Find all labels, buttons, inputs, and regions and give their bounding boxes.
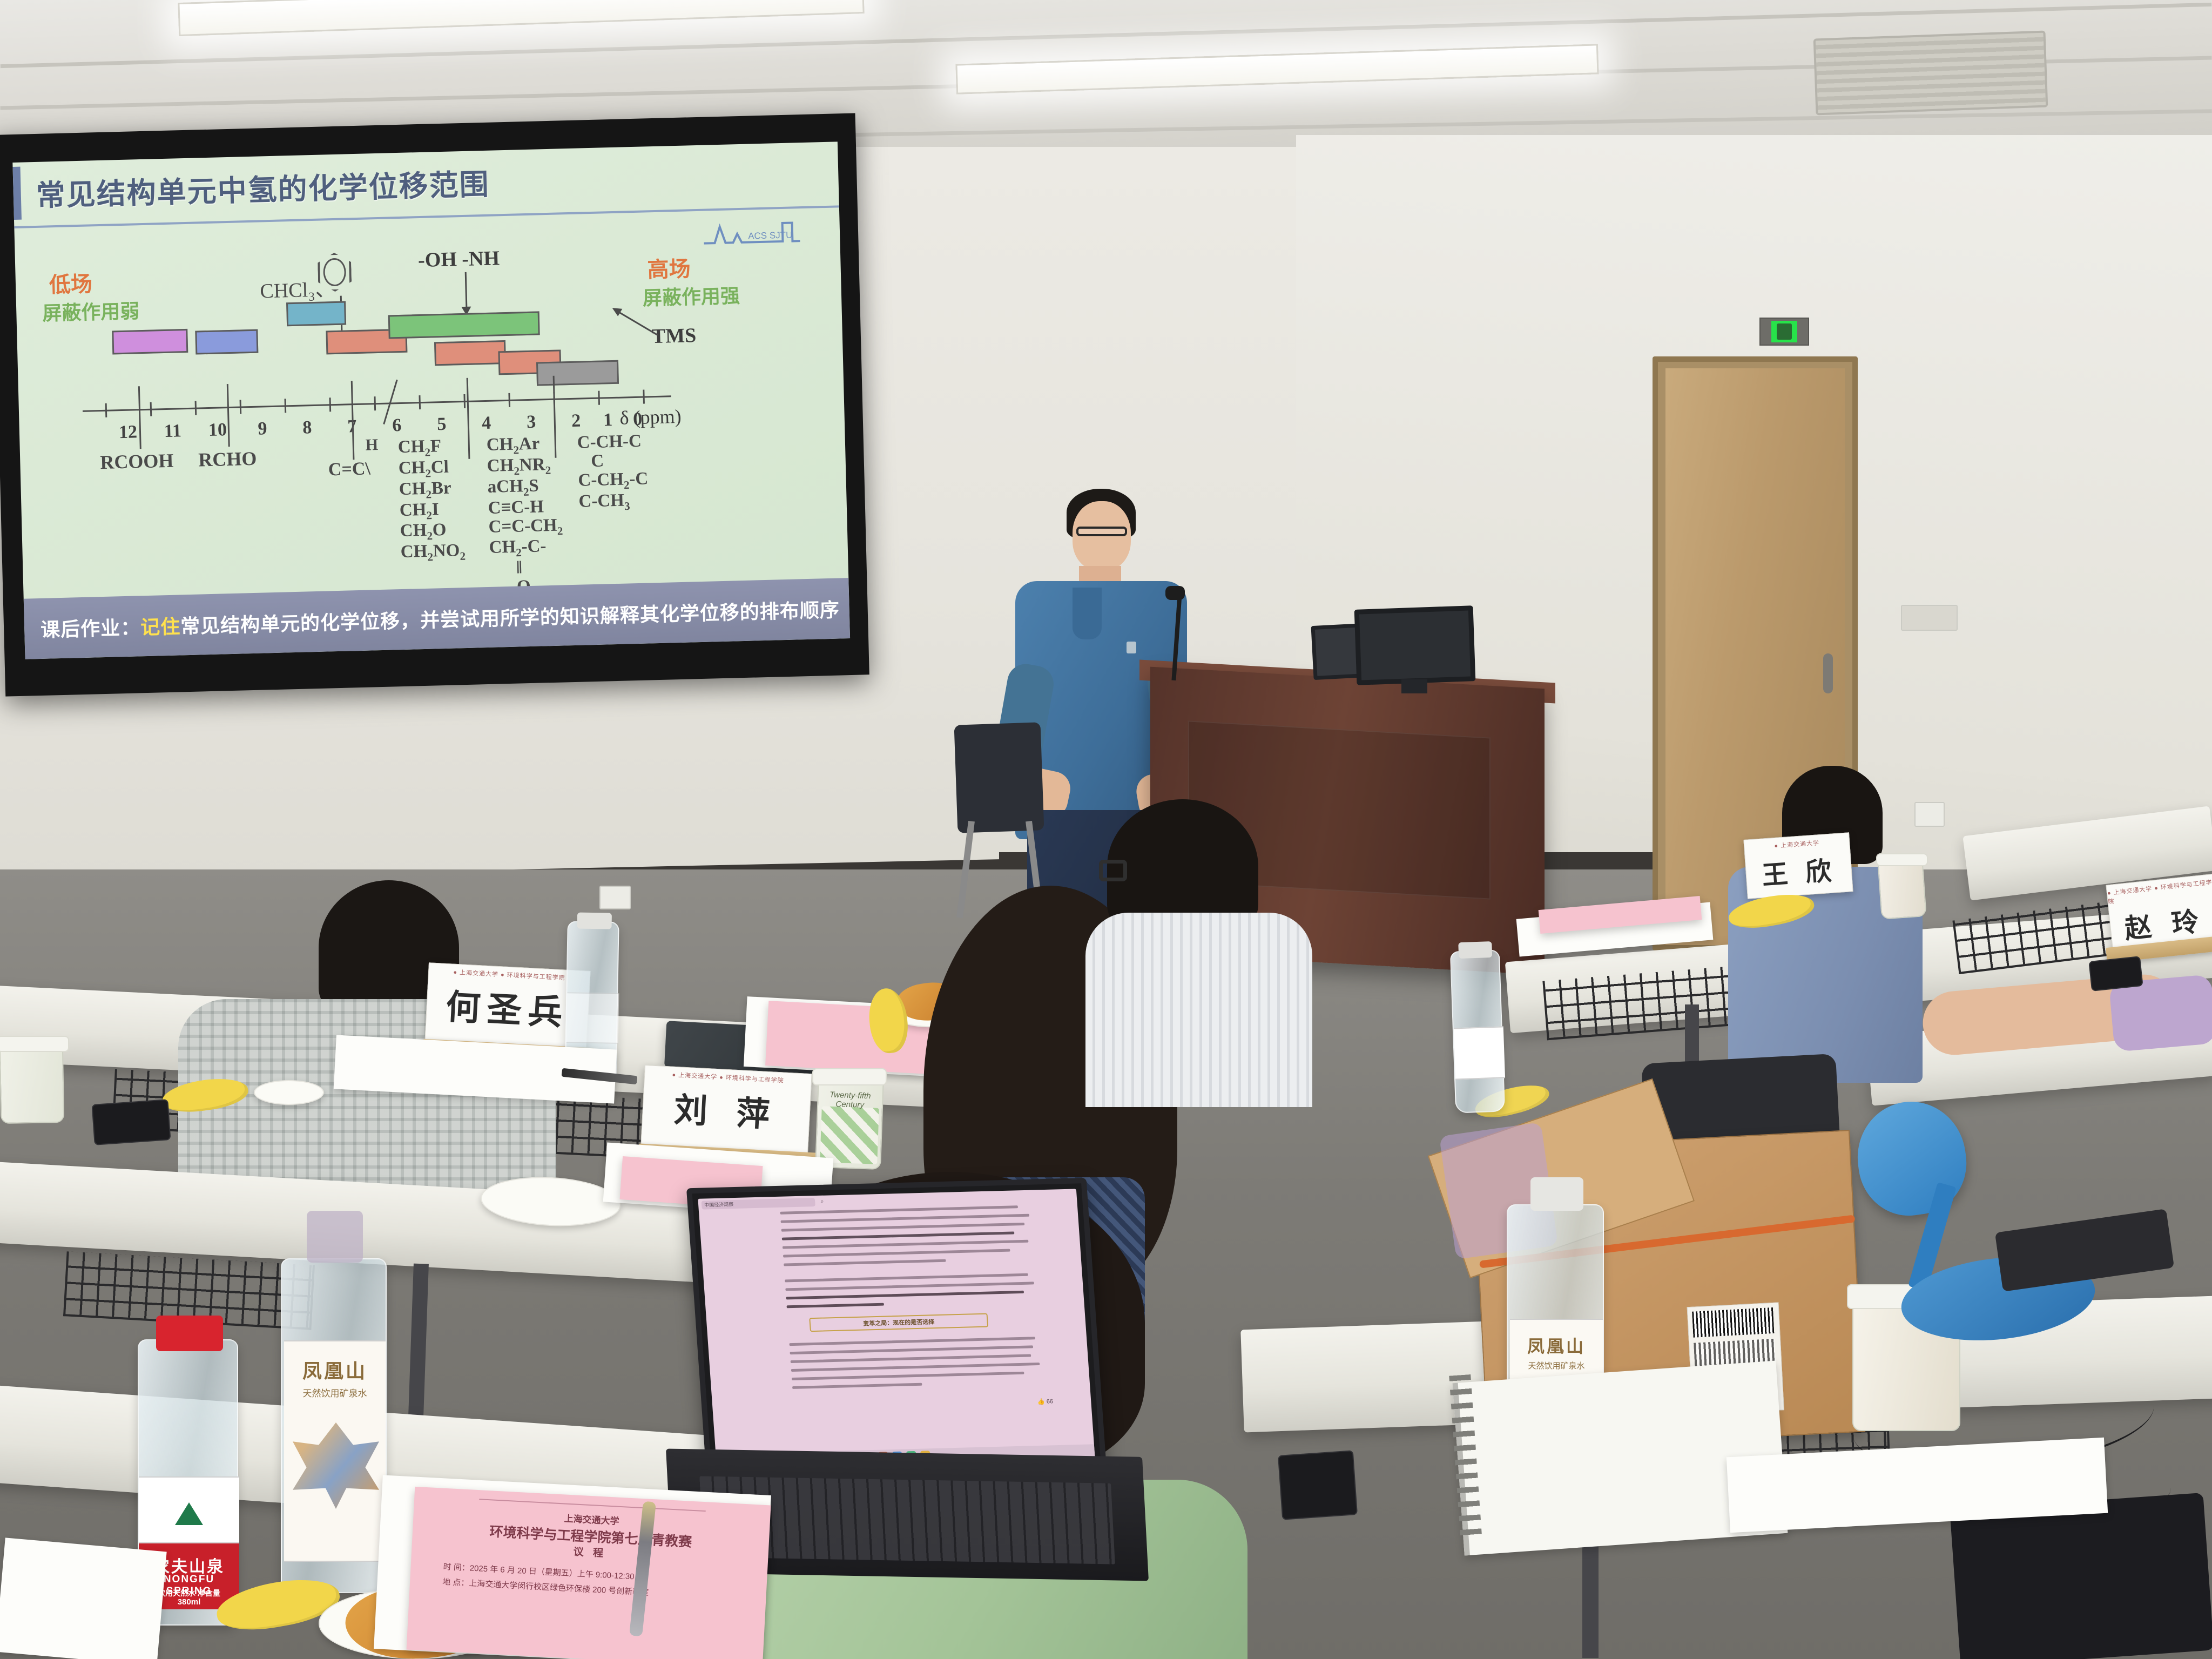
wall-panel-icon — [1901, 605, 1958, 631]
like-count: 66 — [1046, 1398, 1053, 1405]
axis-unit-label: δ (ppm) — [619, 405, 682, 429]
group-label-rcooh: RCOOH — [100, 450, 174, 473]
axis-tick — [150, 402, 152, 416]
alkene-h-atom: H — [365, 436, 378, 454]
axis-tick — [329, 397, 332, 412]
ppm-axis — [83, 395, 671, 412]
tms-pointer-arrow — [613, 308, 658, 335]
label-tms: TMS — [651, 323, 696, 348]
axis-tick-label: 3 — [527, 412, 536, 433]
cup-lid — [1876, 853, 1928, 866]
group-label-alkyl: C-CH-C C C-CH2-C C-CH3 — [577, 431, 649, 513]
cup-pattern — [820, 1106, 879, 1164]
bottle-label — [1454, 1026, 1505, 1080]
article-callout-heading: 变革之局：现在的是否选择 — [809, 1313, 988, 1332]
agenda-document: 上海交通大学 环境科学与工程学院第七届青教赛 议 程 时 间：2025 年 6 … — [407, 1487, 771, 1659]
paper-cup-left — [0, 1042, 64, 1124]
axis-tick-label: 5 — [437, 414, 447, 435]
axis-tick — [643, 390, 645, 404]
bottle2-brand: 凤凰山 — [284, 1355, 386, 1384]
cup-text: Twenty-fifth Century — [816, 1090, 884, 1110]
running-man-exit-icon — [1771, 321, 1797, 342]
plate-left — [254, 1080, 324, 1105]
label-low-field-shielding: 屏蔽作用弱 — [42, 295, 140, 326]
sjtu-acs-logo-icon: ACS SJTU — [701, 210, 821, 251]
bottle-label: 凤凰山 天然饮用矿泉水 — [284, 1340, 386, 1562]
projection-screen: 常见结构单元中氢的化学位移范围 ACS SJTU 低场 屏蔽作用弱 高场 屏蔽作… — [0, 113, 869, 697]
leader-line — [138, 386, 141, 449]
axis-tick-label: 9 — [258, 419, 267, 439]
bottle2-desc: 天然饮用矿泉水 — [1510, 1360, 1603, 1371]
presenter-pocket-logo — [1127, 642, 1136, 653]
axis-tick — [598, 391, 600, 405]
laptop-browser-page[interactable]: 中国经济观察 ⌕ 变革之局：现在的是否选择 � — [698, 1189, 1095, 1468]
axis-tick-label: 6 — [392, 415, 402, 436]
axis-tick — [285, 399, 287, 413]
bottle-cap — [577, 913, 612, 929]
axis-tick — [463, 394, 466, 408]
leader-line — [467, 378, 470, 459]
name-card-liu: ● 上海交通大学 ● 环境科学与工程学院 刘 萍 — [640, 1065, 812, 1155]
slide-title: 常见结构单元中氢的化学位移范围 — [36, 160, 490, 214]
homework-keyword: 记住 — [140, 615, 181, 638]
bottle-cap — [1458, 941, 1492, 959]
logo-text: ACS SJTU — [748, 230, 793, 241]
group-label-ch2x: CH2F CH2Cl CH2Br CH2I CH2O CH2NO2 — [397, 436, 466, 564]
band-arh — [286, 301, 346, 326]
axis-tick-label: 4 — [482, 413, 491, 434]
barcode-icon — [1692, 1307, 1774, 1338]
water-bottle-right — [1450, 949, 1505, 1113]
band-rcooh — [112, 329, 188, 355]
group-label-ch2ar: CH2Ar CH2NR2 aCH2S C≡C-H C=C-CH2 CH2-C- … — [486, 434, 564, 598]
bottle-cap — [307, 1211, 363, 1263]
maple-leaf-icon — [293, 1422, 379, 1509]
axis-tick — [374, 396, 376, 410]
ceiling-air-vent — [1813, 31, 2048, 116]
fenghuangshan-water-bottle: 凤凰山 天然饮用矿泉水 — [281, 1258, 387, 1593]
name-card-text: 刘 萍 — [673, 1082, 780, 1136]
presenter-glasses-icon — [1076, 527, 1127, 536]
pointer-arrow — [465, 272, 468, 314]
door-handle[interactable] — [1823, 653, 1833, 693]
smartphone-left[interactable] — [92, 1099, 171, 1145]
attendee-phone[interactable] — [2088, 956, 2143, 992]
leader-line — [227, 384, 230, 447]
attendee-glasses-icon — [1099, 860, 1127, 881]
axis-tick — [419, 395, 421, 409]
name-card-text: 王 欣 — [1761, 849, 1837, 892]
name-card-zhao: ● 上海交通大学 ● 环境科学与工程学院 赵 玲 — [2106, 874, 2212, 948]
label-low-field: 低场 — [49, 266, 92, 299]
laptop-screen[interactable]: 中国经济观察 ⌕ 变革之局：现在的是否选择 � — [686, 1178, 1107, 1479]
label-high-field-shielding: 屏蔽作用强 — [642, 280, 740, 311]
bottle2-brand: 凤凰山 — [1510, 1333, 1603, 1358]
microphone-head-icon[interactable] — [1165, 586, 1185, 600]
axis-tick-label: 12 — [119, 422, 138, 443]
exit-sign — [1759, 318, 1809, 346]
like-icon[interactable]: 👍 66 — [1037, 1398, 1054, 1405]
axis-tick — [105, 403, 107, 417]
monitor-stand — [1401, 679, 1427, 693]
podium-monitor[interactable] — [1354, 605, 1476, 685]
presenter-collar — [1073, 588, 1102, 639]
bottle-label-top — [139, 1476, 239, 1543]
band-oh-nh — [388, 311, 540, 339]
wall-socket-icon — [599, 886, 631, 909]
presentation-slide: 常见结构单元中氢的化学位移范围 ACS SJTU 低场 屏蔽作用弱 高场 屏蔽作… — [12, 141, 850, 659]
cup-lid — [0, 1036, 69, 1052]
wall-socket-icon — [1914, 802, 1945, 827]
axis-tick-label: 1 — [603, 410, 613, 430]
slide-accent-bar — [13, 167, 22, 220]
mountain-logo-icon — [175, 1502, 203, 1525]
band-alkyl — [536, 360, 619, 386]
paper-front-left — [0, 1537, 167, 1659]
attendee-light-shirt — [1085, 913, 1312, 1107]
browser-search-icon[interactable]: ⌕ — [820, 1198, 824, 1205]
paper-cup-right — [1877, 857, 1926, 920]
browser-tab[interactable]: 中国经济观察 — [702, 1198, 815, 1209]
homework-prefix: 课后作业： — [41, 616, 141, 641]
group-label-rcho: RCHO — [198, 448, 257, 470]
name-card-wang: ● 上海交通大学 王 欣 — [1743, 832, 1853, 899]
axis-tick — [195, 401, 197, 415]
axis-tick-label: 2 — [571, 411, 581, 431]
namecard-logo-icon: ● 上海交通大学 — [1774, 838, 1820, 850]
band-ch2x — [434, 340, 506, 366]
cup-lid — [812, 1068, 887, 1085]
homework-text: 课后作业：记住常见结构单元的化学位移，并尝试用所学的知识解释其化学位移的排布顺序 — [24, 595, 840, 643]
axis-tick-label: 8 — [302, 417, 312, 438]
mouse-device[interactable] — [1278, 1450, 1358, 1520]
label-oh-nh: -OH -NH — [418, 246, 500, 272]
bottle-label — [567, 992, 619, 1044]
band-rcho — [195, 329, 258, 355]
stacking-chair[interactable] — [954, 722, 1044, 833]
axis-tick — [240, 400, 242, 414]
bottle-cap — [1530, 1177, 1583, 1211]
name-card-text: 何圣兵 — [445, 979, 571, 1035]
classroom-scene: 常见结构单元中氢的化学位移范围 ACS SJTU 低场 屏蔽作用弱 高场 屏蔽作… — [0, 0, 2212, 1659]
label-high-field: 高场 — [647, 251, 691, 284]
bottle-cap-red — [156, 1316, 223, 1351]
homework-rest: 常见结构单元的化学位移，并尝试用所学的知识解释其化学位移的排布顺序 — [180, 599, 840, 638]
bottle2-desc: 天然饮用矿泉水 — [284, 1386, 386, 1399]
axis-tick-label: 11 — [164, 421, 181, 442]
group-label-alkene: C=C\ — [328, 459, 370, 480]
axis-tick — [508, 393, 510, 407]
axis-tick-label: 10 — [208, 420, 227, 441]
